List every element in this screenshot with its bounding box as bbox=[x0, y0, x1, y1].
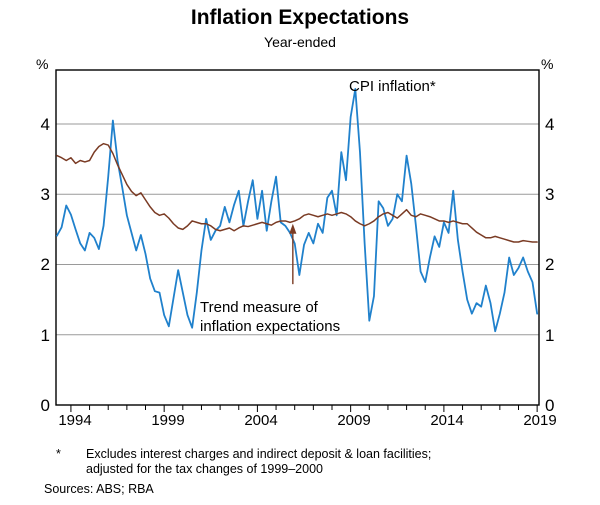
trend-series-label-line1: Trend measure of bbox=[200, 298, 340, 317]
data-series bbox=[57, 89, 537, 331]
x-axis-ticks bbox=[71, 405, 537, 412]
trend-series-label-line2: inflation expectations bbox=[200, 317, 340, 336]
footnote-line1: Excludes interest charges and indirect d… bbox=[86, 447, 431, 461]
sources-line: Sources: ABS; RBA bbox=[44, 482, 154, 496]
plot-area bbox=[0, 0, 600, 505]
footnote-line2: adjusted for the tax changes of 1999–200… bbox=[86, 462, 323, 476]
footnote-marker: * bbox=[56, 447, 61, 461]
cpi-series-label: CPI inflation* bbox=[349, 78, 436, 95]
trend-series-label: Trend measure of inflation expectations bbox=[200, 298, 340, 336]
plot-frame bbox=[56, 70, 539, 405]
chart-container: Inflation Expectations Year-ended % % 0 … bbox=[0, 0, 600, 505]
